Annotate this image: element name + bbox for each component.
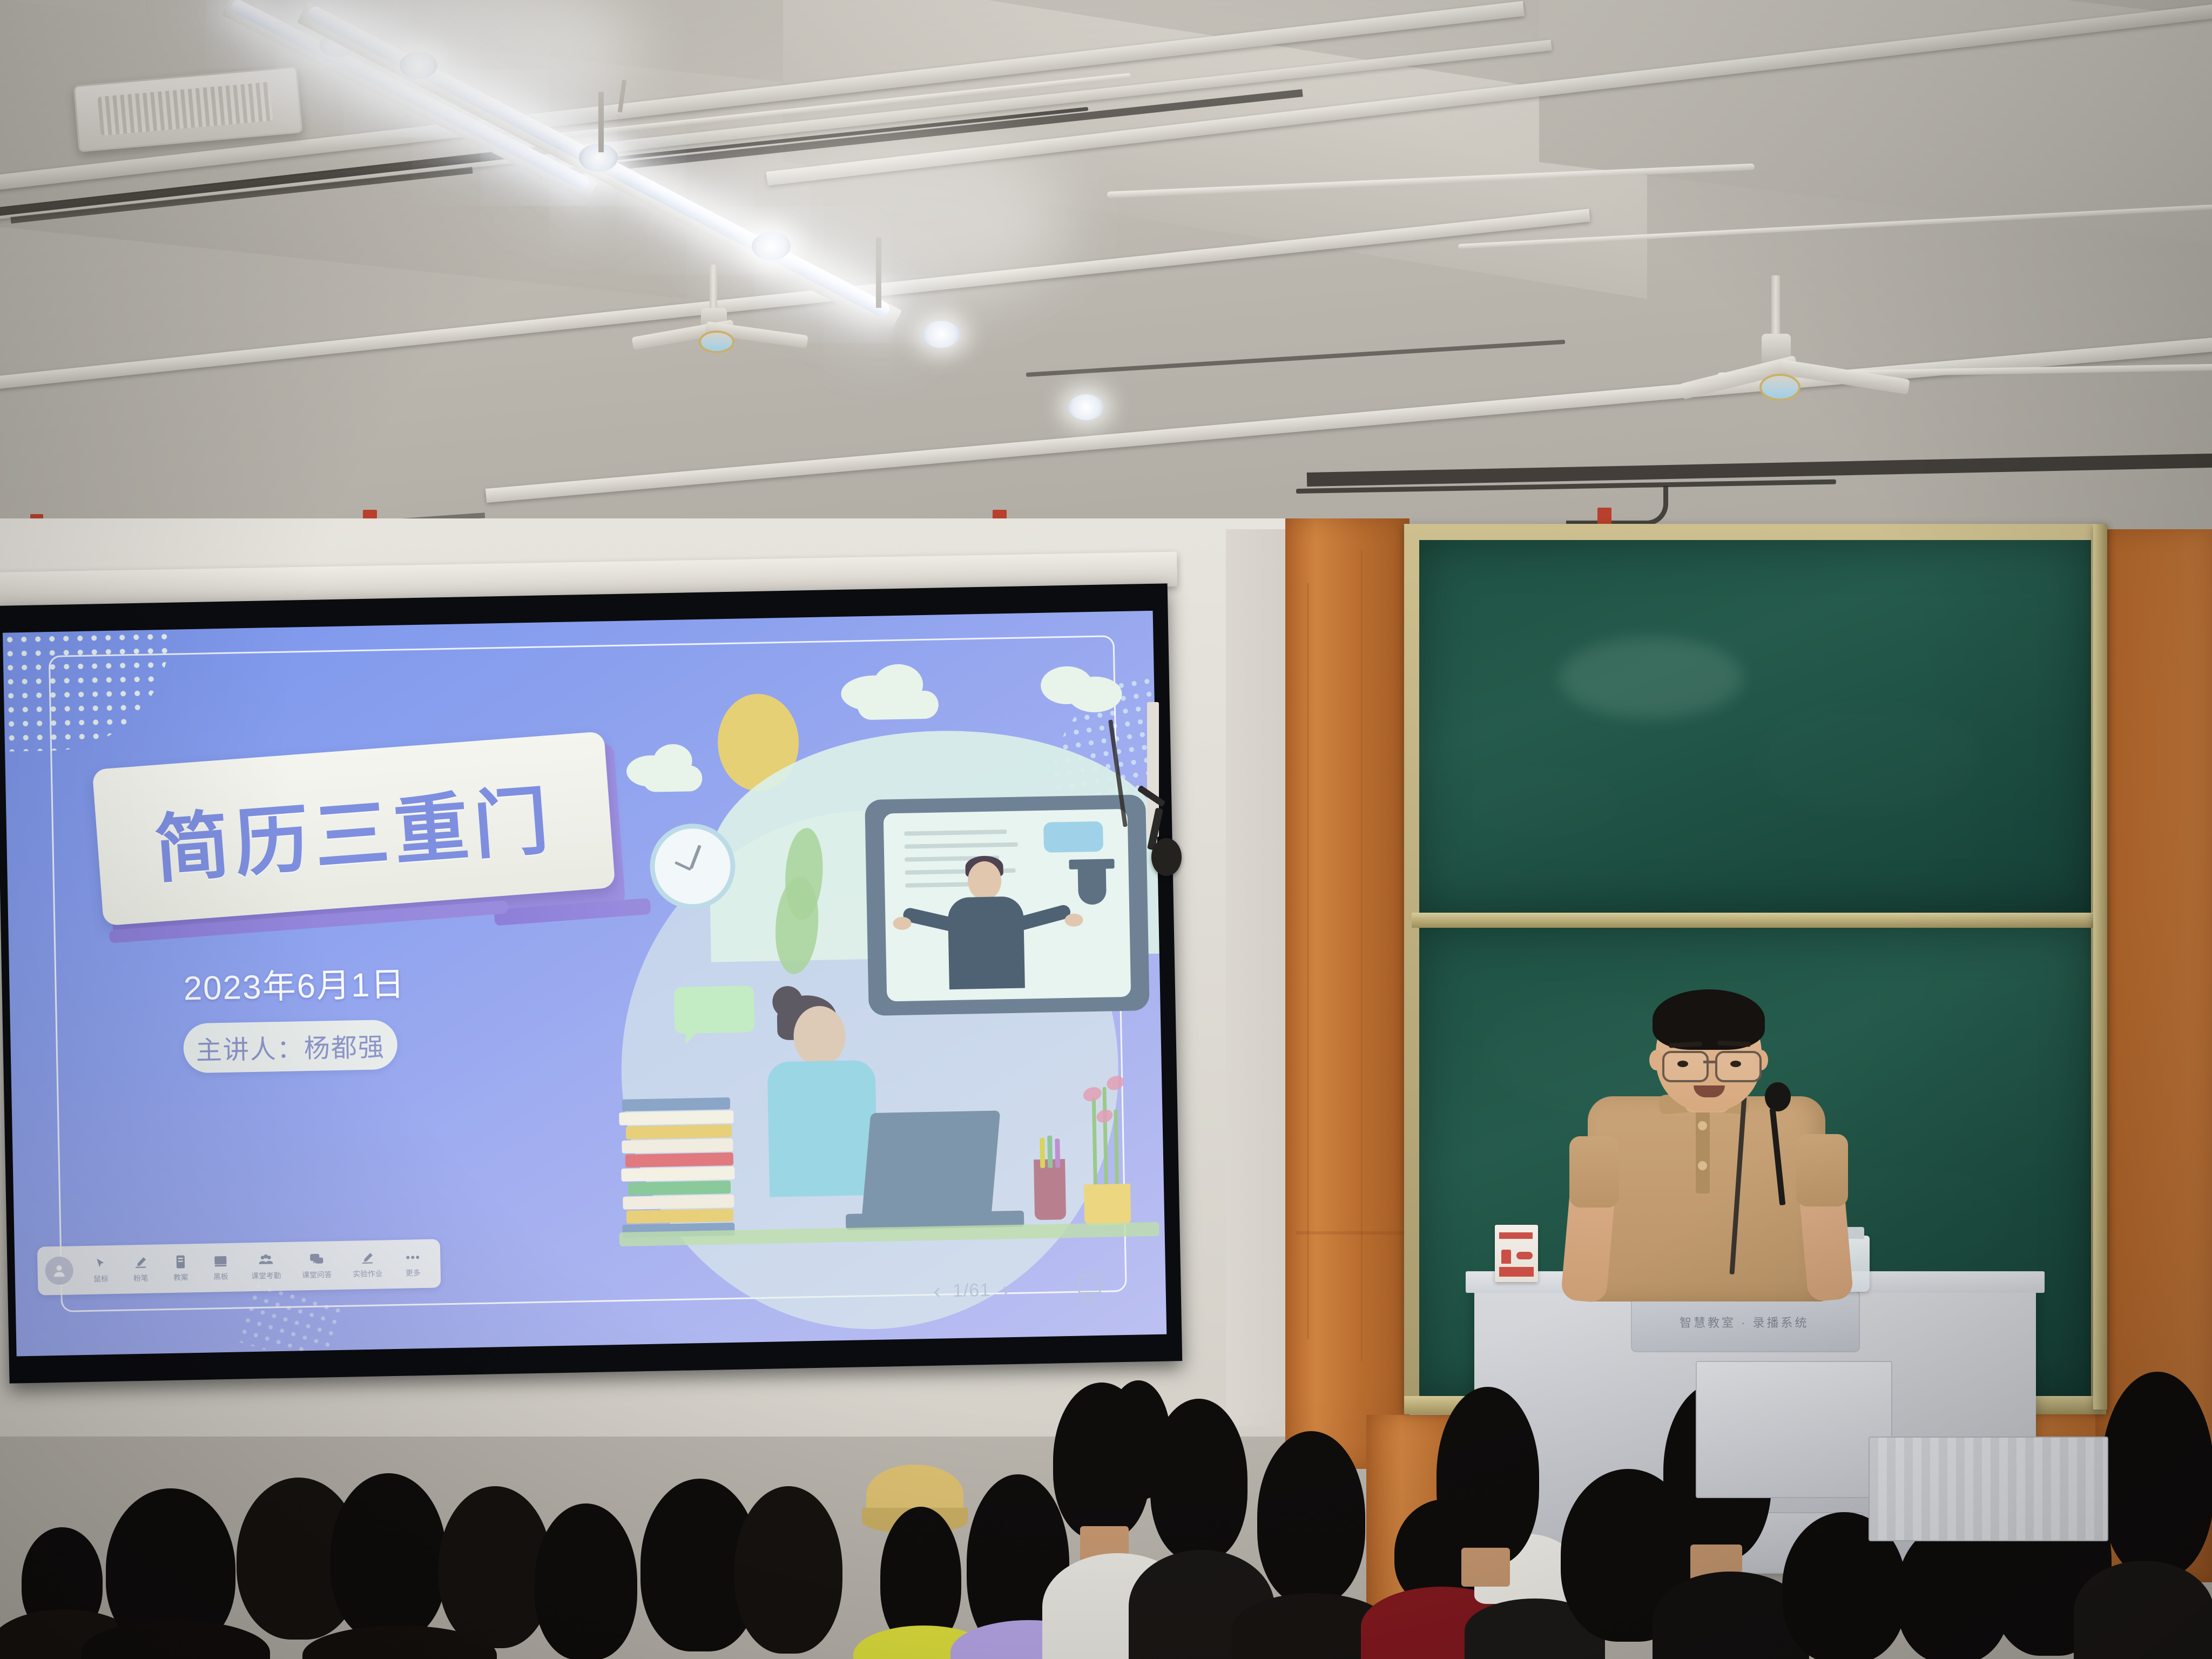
eye [1730,1061,1741,1067]
book [621,1166,734,1182]
book [625,1152,733,1168]
cloud-shape [1068,676,1122,713]
toolbar-label: 更多 [406,1267,421,1278]
toolbar-item-attendance[interactable]: 课堂考勤 [240,1252,292,1282]
toolbar-item-blackboard[interactable]: 黑板 [200,1252,241,1282]
flower-pot [1084,1184,1131,1226]
light-reflector [752,232,791,260]
cloud-shape [643,765,703,792]
attendance-icon [258,1252,274,1269]
chalk-box [1495,1225,1538,1282]
student-body [767,1060,878,1197]
tablet-screen [865,794,1150,1016]
audience-head [1106,1380,1171,1499]
cursor-icon [94,1255,107,1271]
blackboard-divider [1412,913,2100,928]
qa-icon [309,1251,325,1268]
exit-label: ESC [1080,1294,1100,1306]
light-reflector [400,52,437,79]
book [623,1195,734,1210]
chat-bubble-blue [1043,821,1103,853]
graduation-cap [1078,867,1107,905]
toolbar-label: 鼠标 [93,1273,109,1284]
toolbar-item-qa[interactable]: 课堂问答 [291,1251,342,1281]
blackboard-frame-edge [2093,524,2107,1410]
wall-whiteboard [1696,1361,1892,1498]
projector-screen: 简历三重门 2023年6月1日 主讲人：杨都强 鼠标 [0,583,1182,1383]
speaker-hair [1653,989,1765,1050]
toolbar-item-more[interactable]: 更多 [393,1249,433,1279]
wood-panel-column [1285,518,1410,1469]
shirt-button [1698,1121,1707,1130]
classroom-toolbar[interactable]: 鼠标 粉笔 教案 [37,1239,441,1295]
eye [1677,1061,1688,1067]
lecture-hall-photo: 简历三重门 2023年6月1日 主讲人：杨都强 鼠标 [0,0,2212,1659]
slide-title: 简历三重门 [151,760,557,898]
toolbar-label: 实验作业 [353,1268,383,1279]
sleeve [1569,1136,1619,1208]
book [622,1097,730,1111]
shirt-button [1698,1161,1707,1170]
shirt-placket [1696,1102,1710,1193]
audience-shoulders [2074,1561,2212,1659]
audience-head [1437,1387,1539,1565]
exit-fullscreen-icon [1078,1275,1101,1294]
toolbar-item-homework[interactable]: 实验作业 [342,1250,393,1280]
audience-head [1257,1431,1365,1604]
page-indicator: 1/61 [953,1279,991,1301]
slide-pager[interactable]: ‹ 1/61 › [933,1279,1010,1302]
pen-cup [1034,1159,1066,1220]
user-avatar-icon[interactable] [45,1256,73,1285]
audience-head [439,1486,552,1648]
audience-head [734,1486,842,1654]
chevron-left-icon[interactable]: ‹ [933,1280,941,1302]
presentation-slide: 简历三重门 2023年6月1日 主讲人：杨都强 鼠标 [3,611,1166,1357]
chat-bubble-green [674,986,755,1034]
speaker-pill: 主讲人：杨都强 [183,1020,398,1074]
eyeglasses-bridge [1703,1061,1716,1063]
chalk-pen-icon [133,1255,148,1271]
light-hanger [876,238,881,308]
lectern-panel-label: 智慧教室 · 录播系统 [1680,1313,1809,1331]
light-hanger [598,92,604,152]
toolbar-label: 课堂问答 [302,1269,332,1280]
book [626,1124,732,1139]
toolbar-label: 黑板 [213,1271,228,1282]
audience-head [535,1503,637,1659]
audience-head [2101,1372,2212,1577]
toolbar-item-chalk[interactable]: 粉笔 [120,1254,161,1284]
slide-date: 2023年6月1日 [183,957,406,1010]
book [626,1209,733,1224]
blackboard-icon [213,1253,228,1269]
chevron-right-icon[interactable]: › [1002,1279,1010,1300]
chat-bubble-tail [685,1030,698,1044]
perforated-wall-panel [1869,1437,2108,1541]
ceiling-cable [1566,486,1668,525]
book [628,1181,731,1196]
ear [1649,1050,1663,1070]
sleeve [1796,1134,1848,1206]
toolbar-item-lesson-plan[interactable]: 教案 [160,1253,201,1283]
book [622,1138,733,1154]
blackboard-panel-upper [1419,540,2091,913]
book [619,1110,733,1125]
lesson-plan-icon [174,1253,187,1270]
online-learning-illustration [608,643,1166,1345]
toolbar-label: 教案 [173,1272,188,1283]
toolbar-item-cursor[interactable]: 鼠标 [80,1255,121,1285]
light-reflector [1068,394,1104,420]
exit-fullscreen-button[interactable]: ESC [1078,1275,1101,1306]
cloud-shape [857,690,939,720]
toolbar-label: 粉笔 [133,1273,149,1284]
homework-icon [360,1250,375,1266]
neck [1461,1548,1510,1587]
light-reflector [922,321,960,348]
audience-head [331,1473,447,1641]
laptop [862,1110,1000,1216]
toolbar-label: 课堂考勤 [251,1270,281,1281]
wood-panel-wall [2095,529,2212,1447]
slide-speaker: 主讲人：杨都强 [195,1026,385,1067]
more-icon [405,1249,421,1266]
